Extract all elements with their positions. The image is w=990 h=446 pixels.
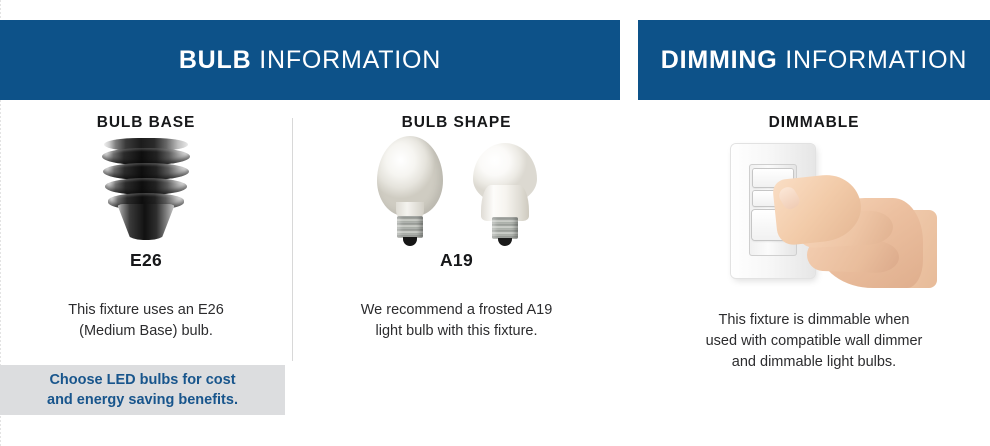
dimming-information-title-strong: DIMMING — [661, 46, 778, 74]
led-a19-bulb-icon — [473, 143, 537, 248]
bulb-information-header: BULB INFORMATION — [0, 20, 620, 100]
led-base-tip — [498, 238, 512, 246]
edison-screw-base-icon — [98, 138, 194, 242]
dimming-information-title-rest: INFORMATION — [778, 46, 968, 74]
wall-dimmer-switch-with-hand-icon — [699, 136, 929, 288]
bulb-shape-title: BULB SHAPE — [293, 114, 620, 132]
dimmable-description: This fixture is dimmable whenused with c… — [638, 310, 990, 373]
dimming-information-header: DIMMING INFORMATION — [638, 20, 990, 100]
led-callout-box: Choose LED bulbs for costand energy savi… — [0, 365, 285, 415]
dimmable-column: DIMMABLE This fixture is dimma — [638, 114, 990, 373]
bulb-base-code: E26 — [0, 250, 292, 271]
incandescent-a19-bulb-icon — [377, 136, 443, 248]
bulb-information-title: BULB INFORMATION — [179, 46, 441, 75]
bulb-base-figure — [0, 132, 292, 250]
bulb-information-title-strong: BULB — [179, 46, 252, 74]
bulb-shape-figure — [293, 132, 620, 250]
hand-fingernail — [776, 184, 802, 212]
dimming-information-title: DIMMING INFORMATION — [661, 46, 967, 75]
dimmable-title: DIMMABLE — [638, 114, 990, 132]
led-callout-text: Choose LED bulbs for costand energy savi… — [47, 370, 238, 410]
bulb-and-dimming-information-panel: BULB INFORMATION DIMMING INFORMATION BUL… — [0, 0, 990, 446]
dimmable-figure — [638, 132, 990, 292]
bulb-base-column: BULB BASE E26 This fixture uses an E26(M… — [0, 114, 292, 342]
bulb-information-title-rest: INFORMATION — [251, 46, 441, 74]
incandescent-screw-base — [397, 216, 423, 238]
led-body — [481, 185, 529, 221]
bulb-base-title: BULB BASE — [0, 114, 292, 132]
bulb-shape-column: BULB SHAPE A19 We recommend a frosted A1… — [293, 114, 620, 342]
pointing-hand-icon — [773, 176, 923, 288]
bulb-shape-code: A19 — [293, 250, 620, 271]
bulb-base-description: This fixture uses an E26(Medium Base) bu… — [0, 300, 292, 342]
led-screw-base — [492, 217, 518, 239]
bulb-shape-description: We recommend a frosted A19light bulb wit… — [293, 300, 620, 342]
incandescent-base-tip — [403, 237, 417, 246]
screw-base-tip — [117, 204, 175, 240]
bulb-shape-icons — [293, 136, 620, 248]
